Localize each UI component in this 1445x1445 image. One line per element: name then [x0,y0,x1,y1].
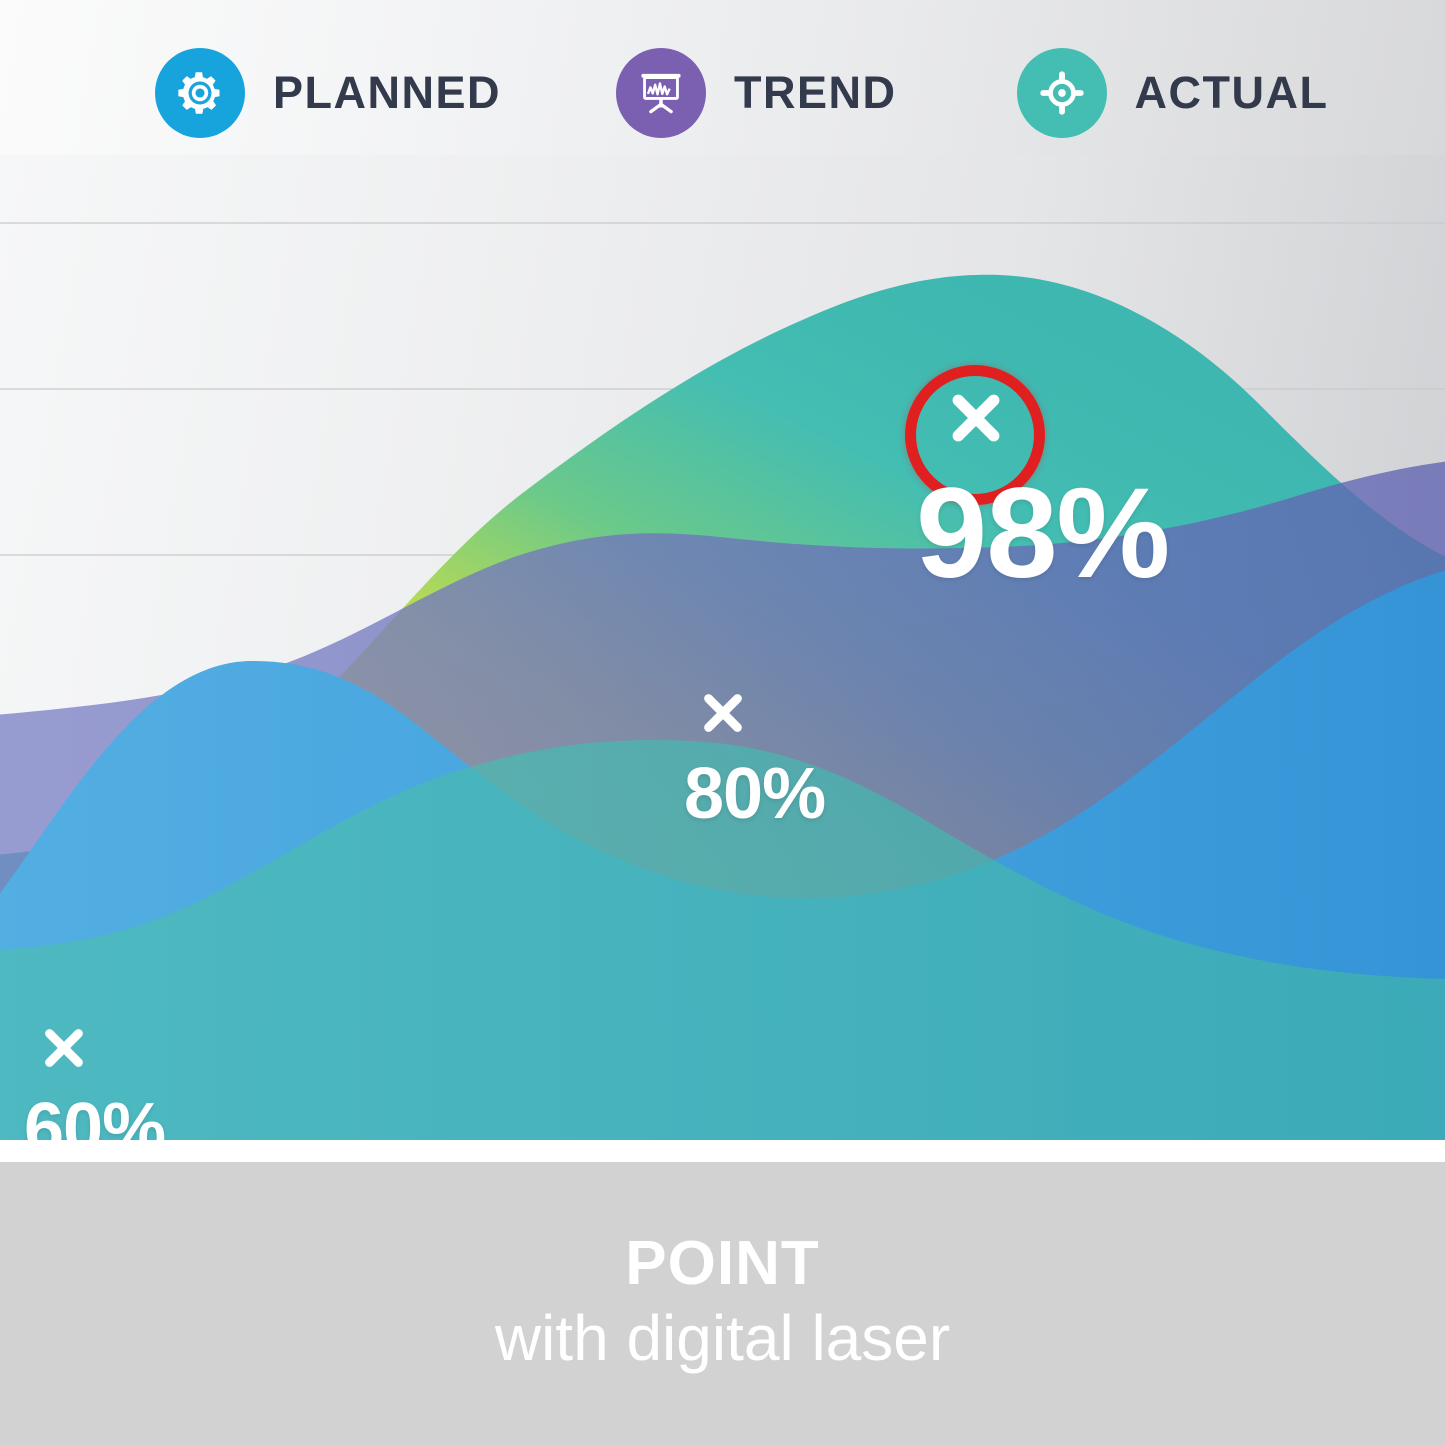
legend-label-trend: TREND [734,67,897,119]
legend-badge-trend [616,48,706,138]
legend-item-trend[interactable]: TREND [616,43,897,143]
area-chart: 98% 80% 60% [0,155,1445,1140]
legend-label-planned: PLANNED [273,67,501,119]
target-crosshair-icon [1035,66,1089,120]
legend-item-planned[interactable]: PLANNED [155,43,501,143]
footer-caption: POINT with digital laser [0,1162,1445,1445]
presentation-chart-icon [635,67,687,119]
legend-label-actual: ACTUAL [1135,67,1329,119]
legend-badge-actual [1017,48,1107,138]
chart-footer-divider [0,1140,1445,1162]
highlight-ring-icon [905,365,1045,505]
footer-subtitle: with digital laser [495,1302,950,1376]
infographic-root: PLANNED TREND [0,0,1445,1445]
legend-item-actual[interactable]: ACTUAL [1017,43,1329,143]
gear-icon [174,67,226,119]
legend-badge-planned [155,48,245,138]
footer-title: POINT [625,1231,819,1296]
chart-canvas [0,155,1445,1140]
